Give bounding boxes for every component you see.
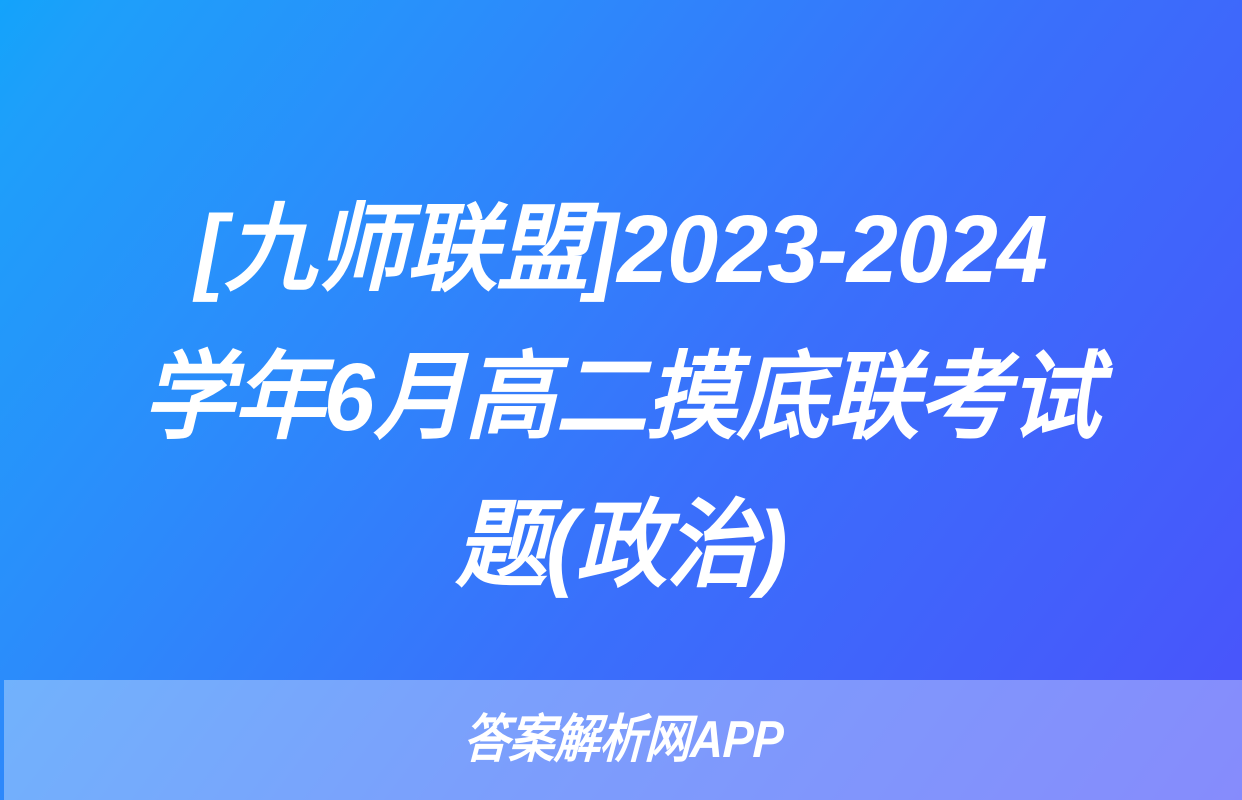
watermark-text: 答案解析网APP — [462, 712, 784, 768]
title-line-1: [九师联盟]2023-2024 — [83, 176, 1158, 324]
watermark: 答案解析网APP — [4, 680, 1242, 800]
page-title: [九师联盟]2023-2024 学年6月高二摸底联考试 题(政治) — [0, 176, 1242, 620]
title-line-3: 题(政治) — [83, 472, 1158, 620]
banner-canvas: [九师联盟]2023-2024 学年6月高二摸底联考试 题(政治) 答案解析网A… — [0, 0, 1242, 800]
title-line-2: 学年6月高二摸底联考试 — [83, 324, 1158, 472]
